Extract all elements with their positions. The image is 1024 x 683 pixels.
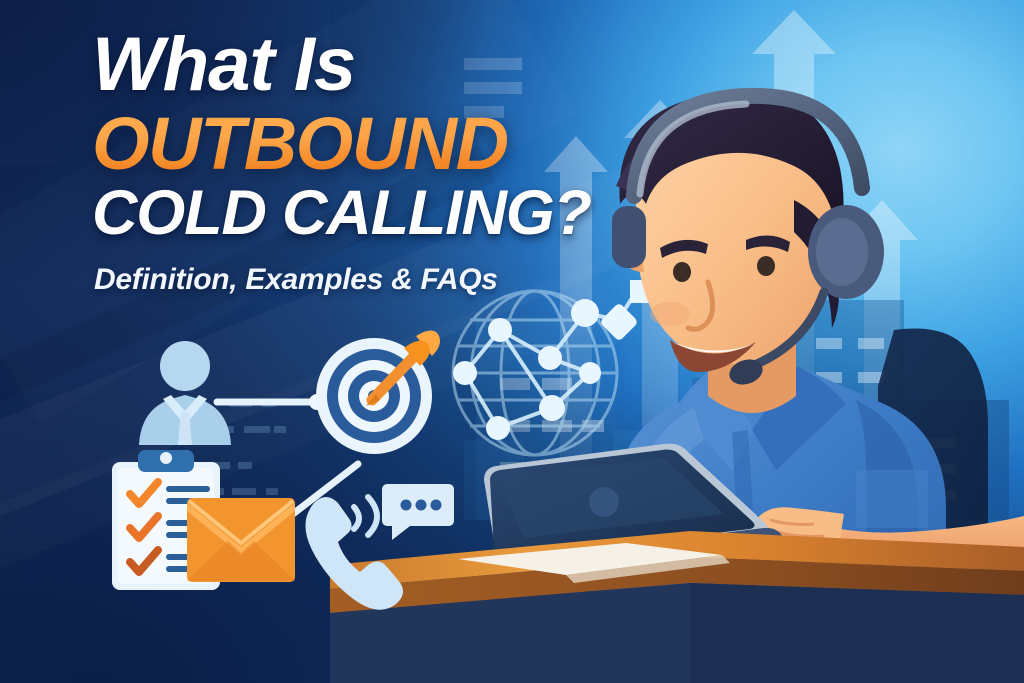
call-waves — [354, 497, 377, 535]
icon-cluster — [110, 330, 460, 595]
headline-subtitle: Definition, Examples & FAQs — [94, 263, 612, 297]
headline-line-1: What Is — [92, 30, 612, 100]
headline-line-3: COLD CALLING? — [92, 183, 612, 245]
target-dart-icon — [312, 332, 440, 458]
envelope-icon — [186, 497, 296, 583]
phone-call-icon — [306, 493, 391, 588]
headline-line-2: OUTBOUND — [92, 108, 612, 179]
banner-root: What Is OUTBOUND COLD CALLING? Definitio… — [0, 0, 1024, 683]
headline-block: What Is OUTBOUND COLD CALLING? Definitio… — [92, 30, 612, 297]
person-contact-icon — [135, 340, 235, 445]
chat-bubble-icon — [382, 480, 454, 542]
